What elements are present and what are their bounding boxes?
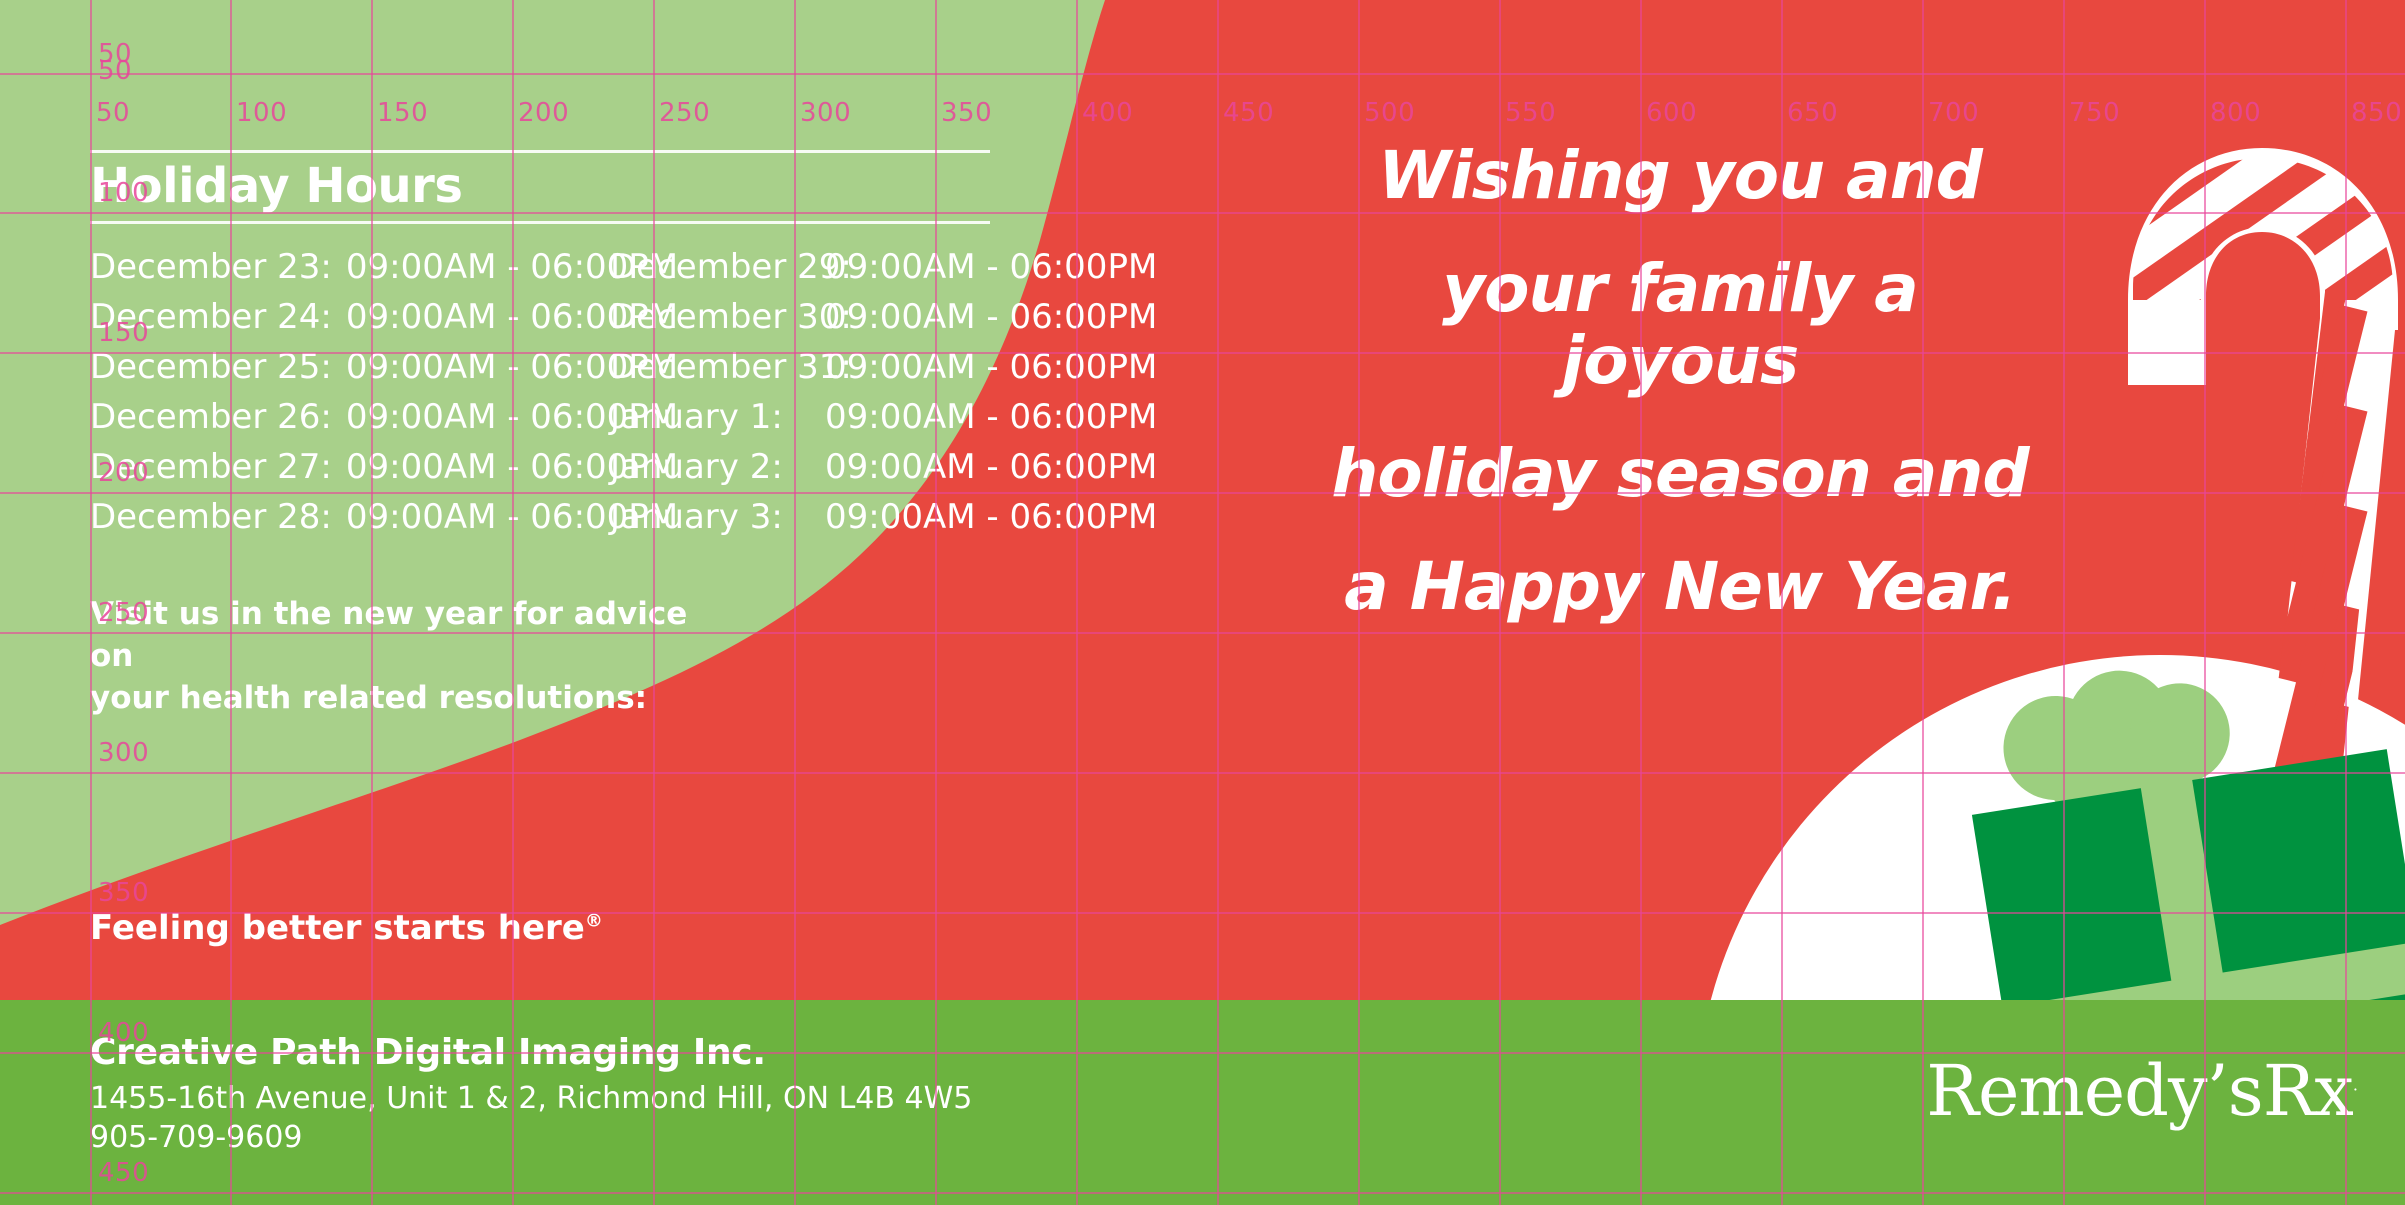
hours-day: December 30:: [610, 300, 825, 334]
remedys-rx-logo: Remedy’sRx.: [1926, 1056, 2357, 1126]
hours-time: 09:00AM - 06:00PM: [825, 350, 1157, 384]
hours-cell-right: January 3: 09:00AM - 06:00PM: [610, 500, 1130, 534]
hours-row: December 28: 09:00AM - 06:00PM January 3…: [90, 500, 1140, 534]
tagline-text: Feeling better starts here: [90, 908, 585, 948]
holiday-card: Holiday Hours December 23: 09:00AM - 06:…: [0, 0, 2405, 1205]
footer-phone: 905-709-9609: [90, 1118, 972, 1157]
greeting-message: Wishing you and your family a joyous hol…: [1330, 140, 2030, 622]
hours-day: January 1:: [610, 400, 825, 434]
registered-trademark-icon: ®: [585, 911, 603, 932]
tagline: Feeling better starts here®: [90, 908, 603, 948]
footer-address: 1455-16th Avenue, Unit 1 & 2, Richmond H…: [90, 1079, 972, 1118]
hours-day: December 26:: [90, 400, 332, 434]
greeting-line: Wishing you and: [1330, 140, 2030, 211]
greeting-line: holiday season and: [1330, 438, 2030, 509]
hours-cell-left: December 27: 09:00AM - 06:00PM: [90, 450, 610, 484]
hours-day: January 2:: [610, 450, 825, 484]
hours-cell-left: December 28: 09:00AM - 06:00PM: [90, 500, 610, 534]
hours-table: December 23: 09:00AM - 06:00PM December …: [90, 250, 1140, 534]
divider-bottom: [90, 221, 990, 224]
hours-cell-left: December 26: 09:00AM - 06:00PM: [90, 400, 610, 434]
hours-day: December 29:: [610, 250, 825, 284]
hours-cell-right: December 29: 09:00AM - 06:00PM: [610, 250, 1130, 284]
visit-note-line1: Visit us in the new year for advice on: [90, 596, 687, 674]
greeting-line: a Happy New Year.: [1330, 551, 2030, 622]
hours-cell-left: December 23: 09:00AM - 06:00PM: [90, 250, 610, 284]
hours-time: 09:00AM - 06:00PM: [825, 300, 1157, 334]
hours-day: December 28:: [90, 500, 332, 534]
footer-company-name: Creative Path Digital Imaging Inc.: [90, 1030, 972, 1075]
logo-text: Remedy’sRx: [1926, 1050, 2353, 1132]
hours-day: January 3:: [610, 500, 825, 534]
holiday-hours-panel: Holiday Hours December 23: 09:00AM - 06:…: [90, 150, 1140, 720]
hours-time: 09:00AM - 06:00PM: [825, 450, 1157, 484]
hours-row: December 27: 09:00AM - 06:00PM January 2…: [90, 450, 1140, 484]
holiday-hours-title: Holiday Hours: [90, 161, 1140, 211]
divider-top: [90, 150, 990, 153]
hours-day: December 23:: [90, 250, 332, 284]
hours-time: 09:00AM - 06:00PM: [825, 400, 1157, 434]
visit-note-line2: your health related resolutions:: [90, 680, 647, 716]
hours-time: 09:00AM - 06:00PM: [825, 500, 1157, 534]
hours-cell-right: January 2: 09:00AM - 06:00PM: [610, 450, 1130, 484]
logo-mark: .: [2353, 1076, 2357, 1095]
greeting-line: your family a joyous: [1330, 253, 2030, 396]
hours-row: December 26: 09:00AM - 06:00PM January 1…: [90, 400, 1140, 434]
hours-row: December 25: 09:00AM - 06:00PM December …: [90, 350, 1140, 384]
hours-day: December 27:: [90, 450, 332, 484]
hours-day: December 31:: [610, 350, 825, 384]
footer-bar: Creative Path Digital Imaging Inc. 1455-…: [0, 1000, 2405, 1205]
hours-cell-right: December 31: 09:00AM - 06:00PM: [610, 350, 1130, 384]
hours-day: December 24:: [90, 300, 332, 334]
hours-time: 09:00AM - 06:00PM: [825, 250, 1157, 284]
hours-cell-right: January 1: 09:00AM - 06:00PM: [610, 400, 1130, 434]
footer-contact-block: Creative Path Digital Imaging Inc. 1455-…: [90, 1030, 972, 1157]
hours-row: December 23: 09:00AM - 06:00PM December …: [90, 250, 1140, 284]
visit-note: Visit us in the new year for advice on y…: [90, 594, 730, 720]
hours-cell-left: December 24: 09:00AM - 06:00PM: [90, 300, 610, 334]
hours-cell-left: December 25: 09:00AM - 06:00PM: [90, 350, 610, 384]
hours-cell-right: December 30: 09:00AM - 06:00PM: [610, 300, 1130, 334]
hours-row: December 24: 09:00AM - 06:00PM December …: [90, 300, 1140, 334]
hours-day: December 25:: [90, 350, 332, 384]
